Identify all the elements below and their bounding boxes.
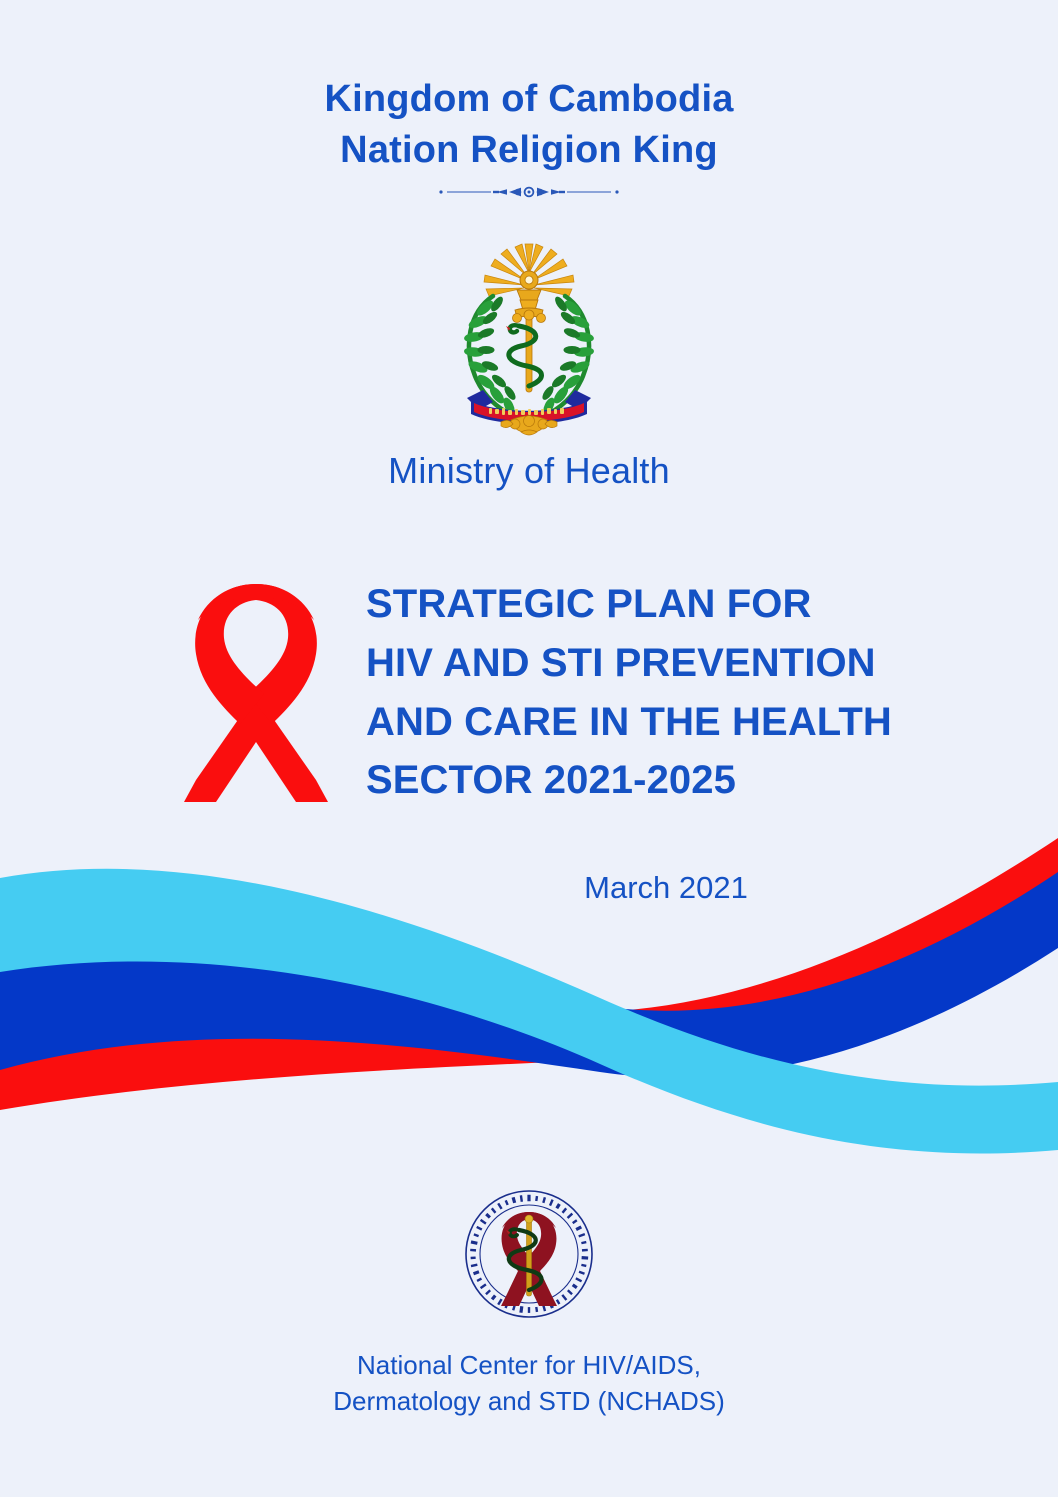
title-line-3: AND CARE IN THE HEALTH [366, 693, 966, 752]
organization-name: National Center for HIV/AIDS, Dermatolog… [0, 1348, 1058, 1420]
title-line-1: STRATEGIC PLAN FOR [366, 575, 966, 634]
red-aids-awareness-ribbon-icon [172, 566, 340, 812]
khmer-ornament-divider-icon [0, 183, 1058, 201]
ministry-of-health-label: Ministry of Health [0, 450, 1058, 492]
nchads-circular-logo-icon [461, 1186, 597, 1322]
title-line-4: SECTOR 2021-2025 [366, 751, 966, 810]
cambodia-ministry-of-health-emblem-icon [449, 238, 609, 448]
page-title: STRATEGIC PLAN FOR HIV AND STI PREVENTIO… [366, 575, 966, 810]
organization-line-2: Dermatology and STD (NCHADS) [0, 1384, 1058, 1420]
cyan-wave [0, 869, 1058, 1154]
kingdom-title-line-1: Kingdom of Cambodia [0, 74, 1058, 125]
organization-line-1: National Center for HIV/AIDS, [0, 1348, 1058, 1384]
title-line-2: HIV AND STI PREVENTION [366, 634, 966, 693]
document-cover-page: Kingdom of Cambodia Nation Religion King [0, 0, 1058, 1497]
national-motto-block: Kingdom of Cambodia Nation Religion King [0, 74, 1058, 201]
kingdom-title-line-2: Nation Religion King [0, 125, 1058, 176]
publication-date: March 2021 [366, 870, 966, 906]
